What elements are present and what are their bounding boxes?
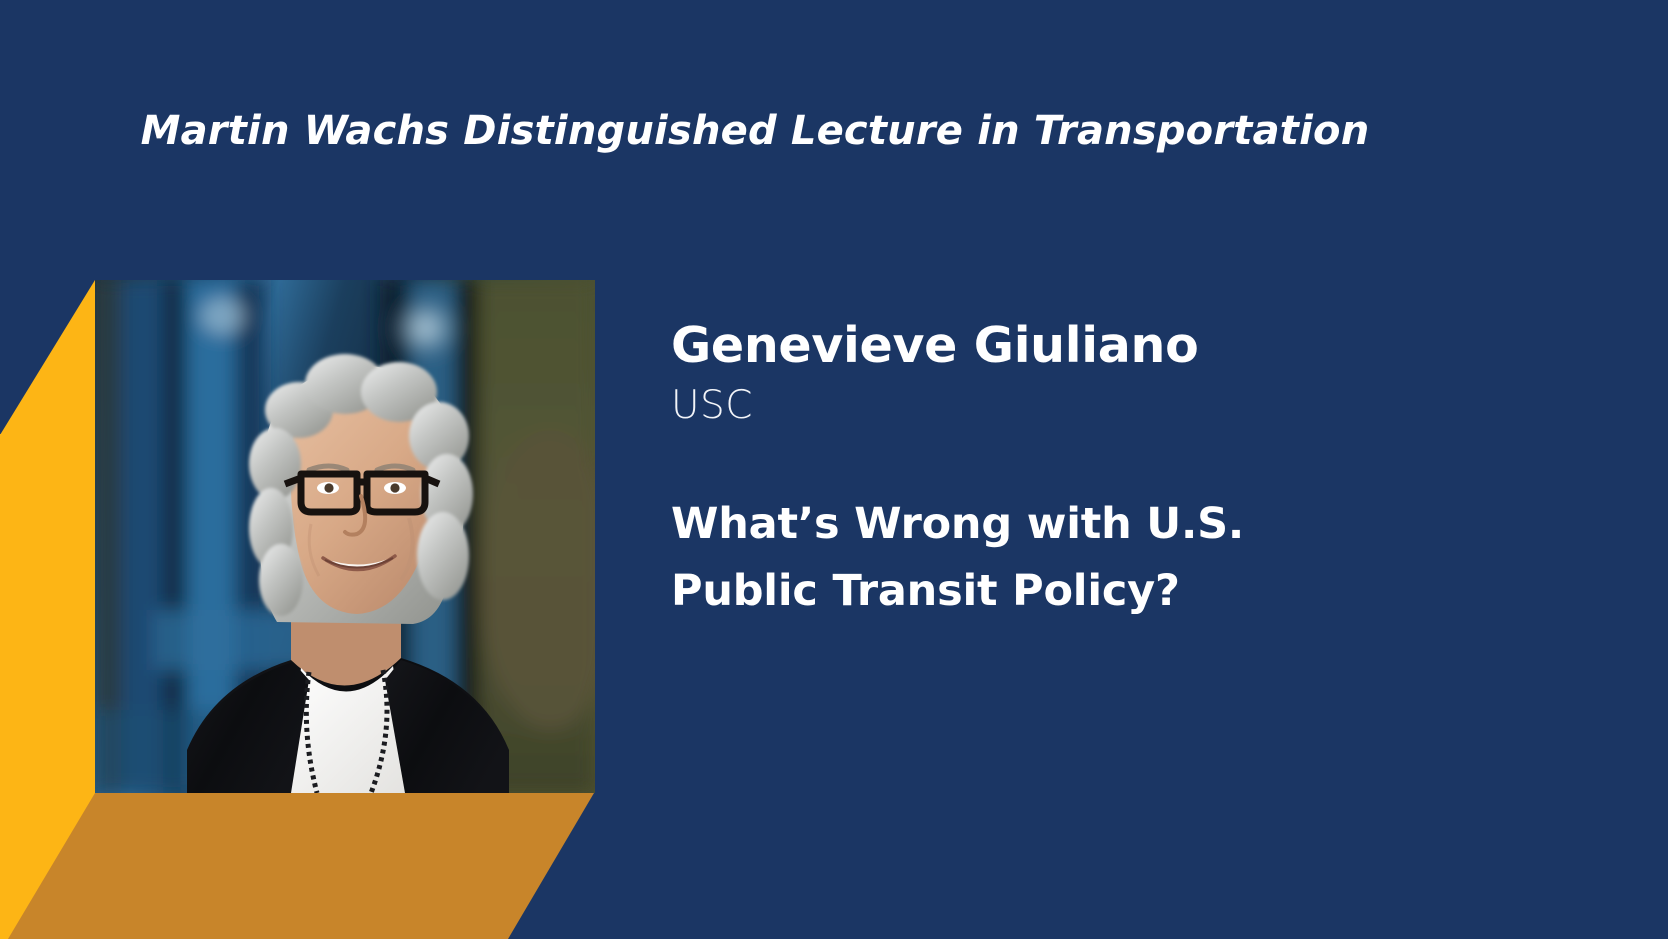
gold-left-band	[0, 434, 96, 939]
speaker-affiliation: USC	[671, 382, 1491, 430]
lecture-series-title: Martin Wachs Distinguished Lecture in Tr…	[0, 108, 1510, 154]
gold-left-wedge	[0, 280, 95, 939]
speaker-portrait	[95, 280, 595, 793]
portrait-photo-image	[95, 280, 595, 793]
lecture-title: What’s Wrong with U.S. Public Transit Po…	[671, 491, 1371, 625]
lecture-title-slide: Martin Wachs Distinguished Lecture in Tr…	[0, 0, 1668, 939]
speaker-info-block: Genevieve Giuliano USC What’s Wrong with…	[671, 318, 1491, 625]
speaker-name: Genevieve Giuliano	[671, 318, 1491, 374]
gold-bottom-parallelogram	[8, 793, 594, 939]
